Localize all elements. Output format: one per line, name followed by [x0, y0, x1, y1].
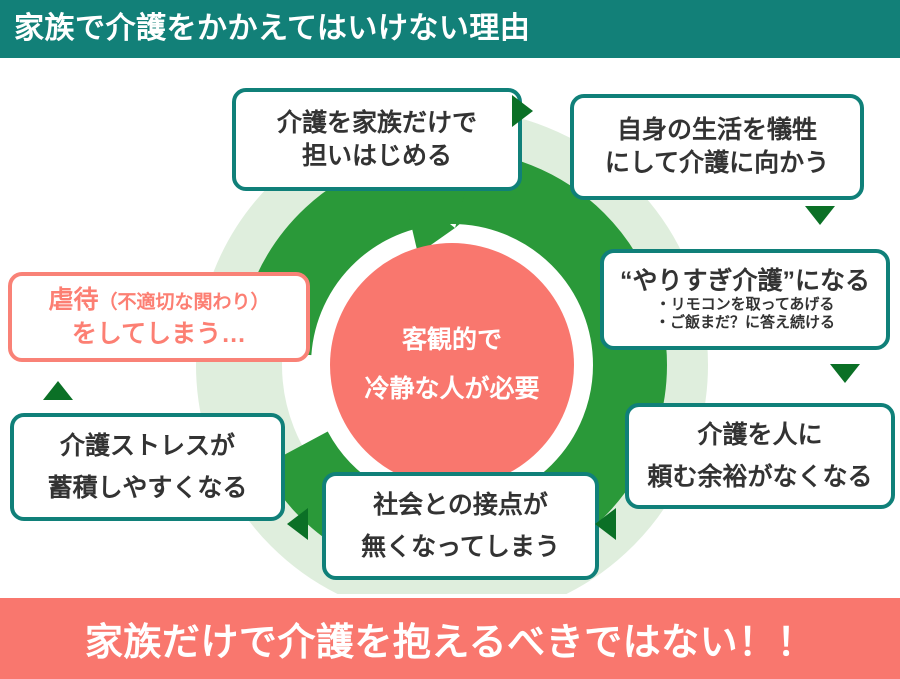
cycle-step-7-main: 虐待	[48, 286, 98, 314]
footer-banner: 家族だけで介護を抱えるべきではない！！	[0, 598, 900, 679]
arrow-left-icon	[287, 508, 308, 540]
cycle-step-6-box: 介護ストレスが 蓄積しやすくなる	[10, 413, 285, 521]
cycle-step-7-box: 虐待（不適切な関わり） をしてしまう…	[8, 272, 310, 362]
arrow-left-icon	[595, 508, 616, 540]
cycle-step-6-line-1: 介護ストレスが	[60, 432, 235, 461]
cycle-step-5-box: 社会との接点が 無くなってしまう	[322, 472, 599, 580]
cycle-step-7-line-1: 虐待（不適切な関わり）	[48, 286, 269, 315]
cycle-step-5-line-1: 社会との接点が	[373, 491, 548, 520]
cycle-step-1-line-2: 担いはじめる	[302, 142, 452, 171]
center-message-circle: 客観的で 冷静な人が必要	[330, 243, 574, 487]
arrow-down-icon	[830, 364, 860, 383]
center-line-2: 冷静な人が必要	[364, 377, 539, 402]
cycle-step-3-box: “やりすぎ介護”になる ・リモコンを取ってあげる ・ご飯まだ？に答え続ける	[600, 249, 890, 350]
cycle-step-5-line-2: 無くなってしまう	[361, 533, 560, 562]
center-line-1: 客観的で	[402, 328, 502, 353]
cycle-step-4-box: 介護を人に 頼む余裕がなくなる	[625, 403, 895, 509]
cycle-step-4-line-2: 頼む余裕がなくなる	[647, 463, 872, 492]
arrow-down-icon	[805, 206, 835, 225]
cycle-step-7-line-2: をしてしまう…	[72, 320, 246, 349]
arrow-up-icon	[43, 381, 73, 400]
cycle-step-1-box: 介護を家族だけで 担いはじめる	[232, 88, 522, 191]
cycle-step-3-bullet-1: ・リモコンを取ってあげる	[656, 296, 835, 315]
footer-message: 家族だけで介護を抱えるべきではない！！	[85, 611, 815, 666]
arrow-right-icon	[512, 95, 533, 127]
cycle-step-4-line-1: 介護を人に	[697, 421, 822, 450]
header-bar: 家族で介護をかかえてはいけない理由	[0, 0, 900, 58]
cycle-step-2-box: 自身の生活を犠牲 にして介護に向かう	[570, 94, 864, 200]
cycle-step-7-sub: （不適切な関わり）	[99, 292, 270, 313]
infographic-canvas: 家族で介護をかかえてはいけない理由 客観的で 冷静な人が必要 介護を家族だけで …	[0, 0, 900, 679]
cycle-step-2-line-1: 自身の生活を犠牲	[617, 116, 817, 145]
cycle-step-2-line-2: にして介護に向かう	[605, 149, 829, 178]
cycle-step-6-line-2: 蓄積しやすくなる	[48, 474, 248, 503]
cycle-step-1-line-1: 介護を家族だけで	[277, 109, 477, 138]
cycle-step-3-bullet-2: ・ご飯まだ？に答え続ける	[655, 314, 835, 333]
page-title: 家族で介護をかかえてはいけない理由	[14, 8, 530, 50]
cycle-step-3-headline: “やりすぎ介護”になる	[620, 268, 870, 296]
